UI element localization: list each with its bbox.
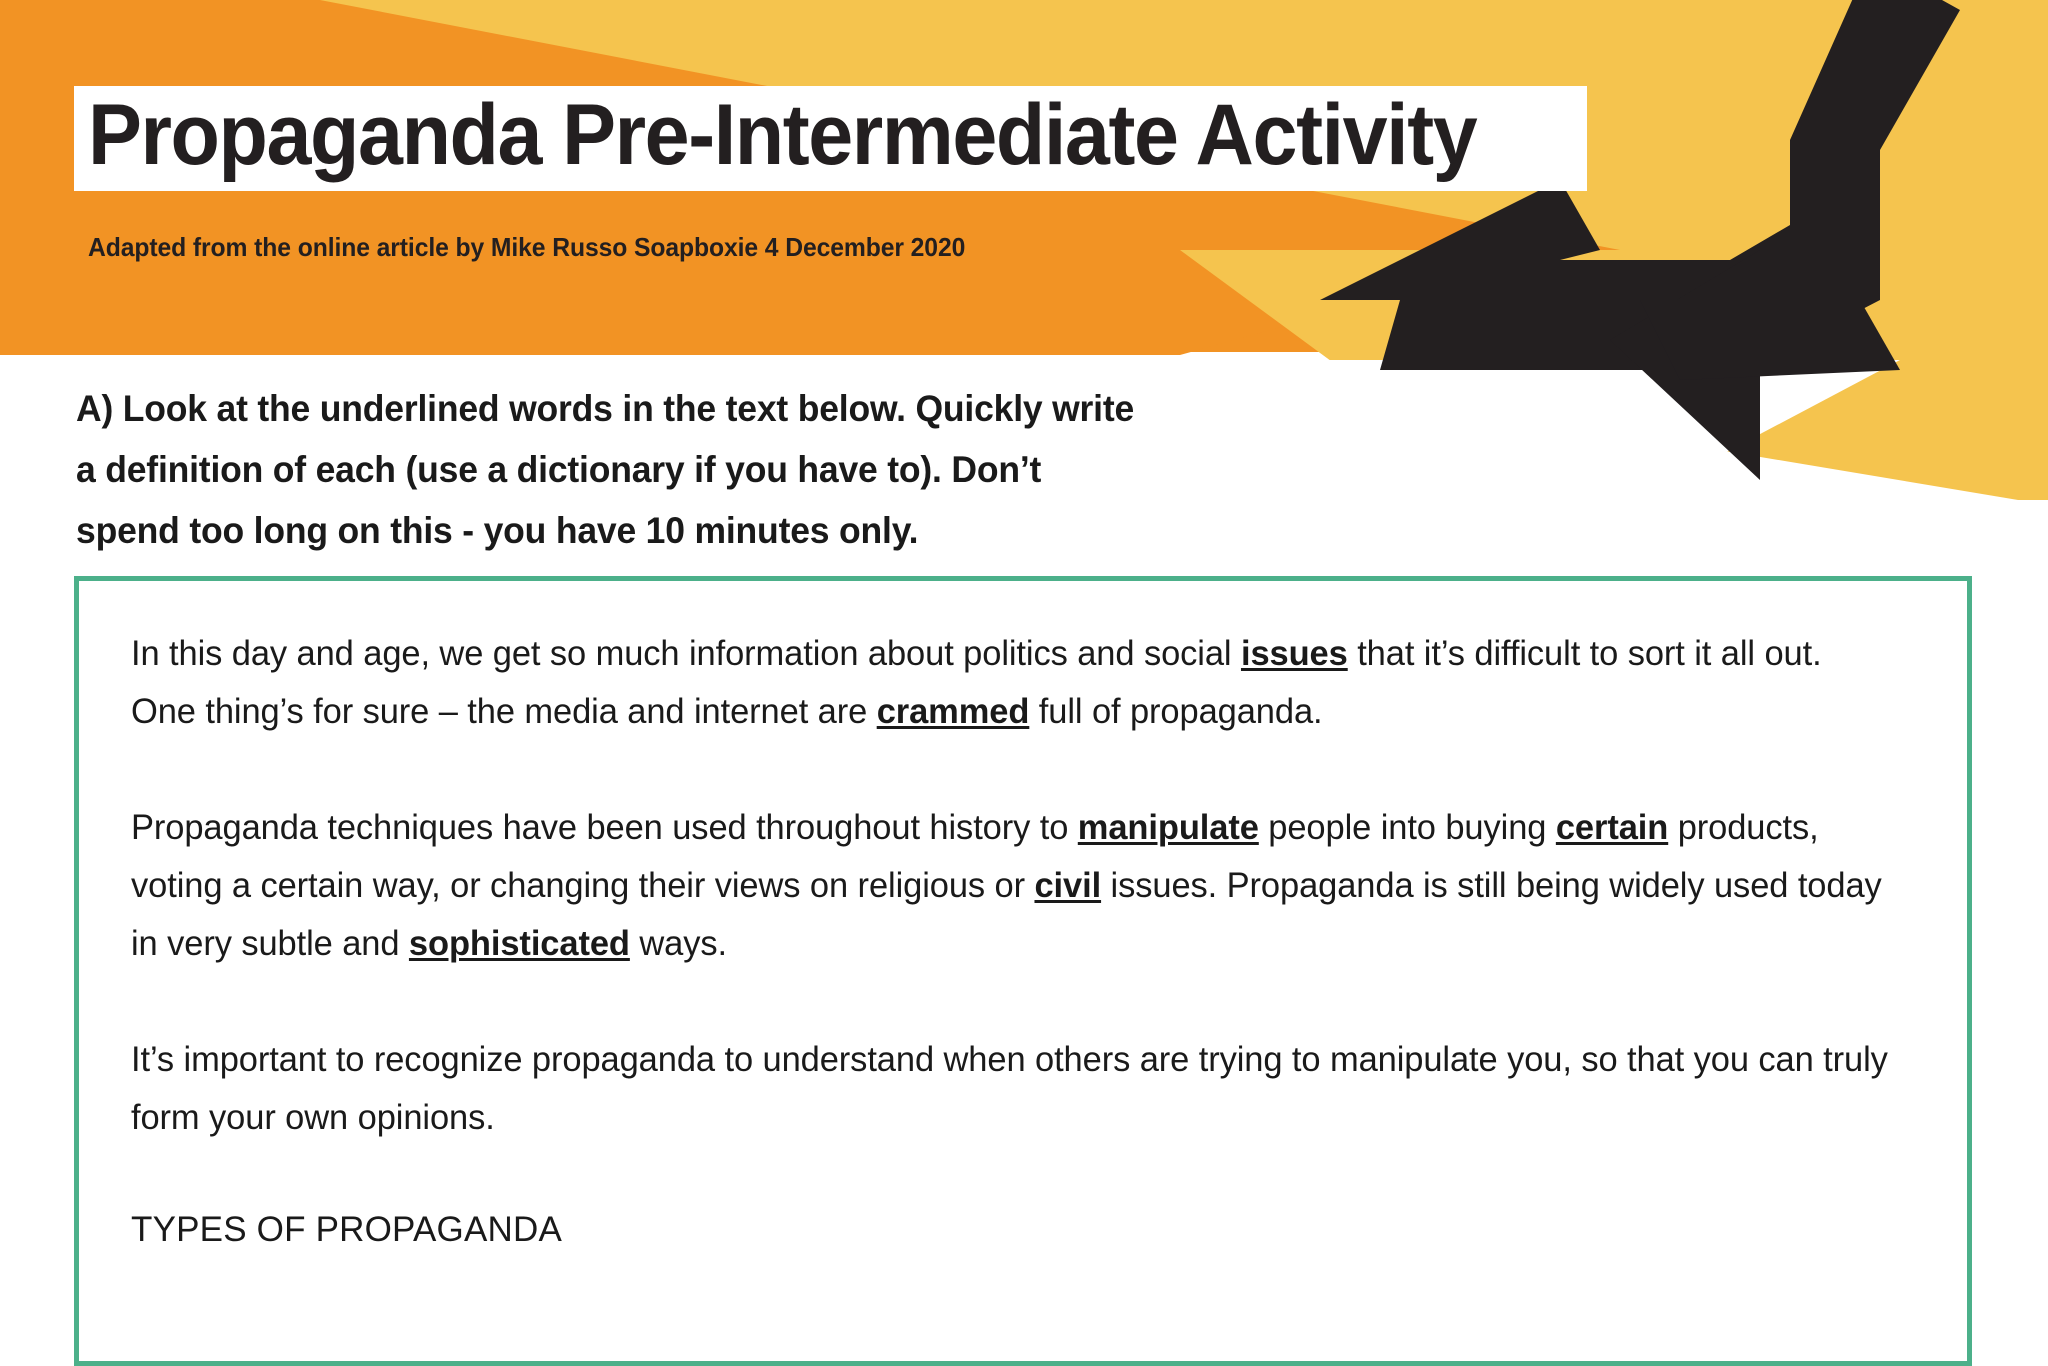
underlined-vocab-word: crammed (877, 692, 1030, 731)
instruction-line-1: A) Look at the underlined words in the t… (76, 378, 1516, 439)
passage-text-run: people into buying (1259, 808, 1556, 847)
passage-text-run: ways. (630, 924, 727, 963)
underlined-vocab-word: civil (1034, 866, 1101, 905)
underlined-vocab-word: certain (1556, 808, 1668, 847)
arrow-shaft (1640, 300, 1900, 380)
passage-paragraph-1: In this day and age, we get so much info… (131, 625, 1888, 741)
page-title-plate: Propaganda Pre-Intermediate Activity (74, 86, 1587, 191)
banner-shape-dark-2 (0, 250, 1560, 355)
passage-text-run: It’s important to recognize propaganda t… (131, 1040, 1888, 1137)
passage-text-run: Propaganda techniques have been used thr… (131, 808, 1078, 847)
passage-text-run: In this day and age, we get so much info… (131, 634, 1241, 673)
passage-text-run: full of propaganda. (1029, 692, 1322, 731)
page-title: Propaganda Pre-Intermediate Activity (88, 90, 1476, 181)
instruction-line-2: a definition of each (use a dictionary i… (76, 439, 1516, 500)
worksheet-page: Propaganda Pre-Intermediate Activity Ada… (0, 0, 2048, 1366)
reading-passage-content: In this day and age, we get so much info… (79, 581, 1967, 1255)
passage-paragraph-3: It’s important to recognize propaganda t… (131, 1031, 1888, 1147)
reading-passage-box: In this day and age, we get so much info… (74, 576, 1972, 1366)
underlined-vocab-word: issues (1241, 634, 1348, 673)
passage-paragraph-2: Propaganda techniques have been used thr… (131, 799, 1888, 973)
underlined-vocab-word: manipulate (1078, 808, 1259, 847)
arrow-head-icon (1610, 250, 1760, 480)
page-subtitle: Adapted from the online article by Mike … (88, 232, 965, 263)
types-of-propaganda-heading: TYPES OF PROPAGANDA (131, 1205, 1915, 1255)
instruction-line-3: spend too long on this - you have 10 min… (76, 500, 1516, 561)
instructions-block: A) Look at the underlined words in the t… (76, 378, 1576, 561)
underlined-vocab-word: sophisticated (409, 924, 630, 963)
